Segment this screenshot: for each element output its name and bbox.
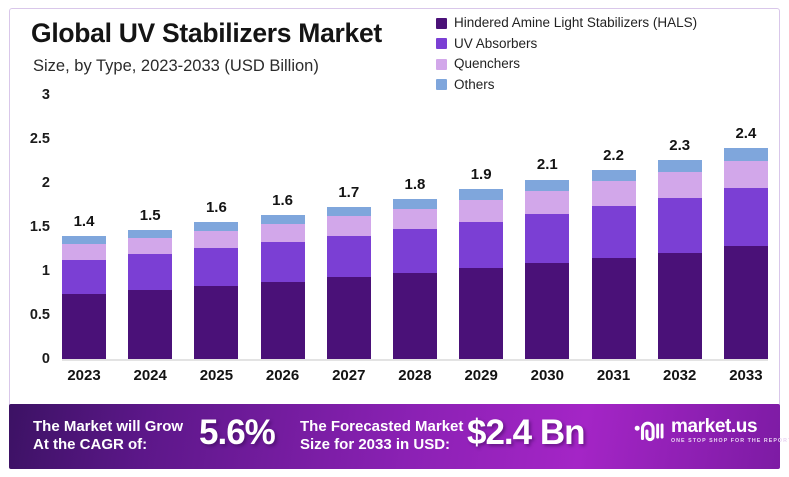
x-axis-tick: 2033 (724, 367, 768, 391)
bar-segment[interactable] (459, 200, 503, 222)
legend-item-label: Quenchers (454, 57, 520, 71)
chart-legend: Hindered Amine Light Stabilizers (HALS)U… (436, 15, 697, 93)
bar-stack (459, 189, 503, 359)
bar-value-label: 1.7 (338, 184, 359, 201)
bar-column[interactable]: 1.6 (261, 95, 305, 359)
bar-segment[interactable] (525, 180, 569, 191)
bar-column[interactable]: 1.9 (459, 95, 503, 359)
bar-segment[interactable] (658, 172, 702, 198)
logo-name: market.us (671, 417, 789, 436)
cagr-label: The Market will Grow At the CAGR of: (33, 418, 183, 455)
forecast-label: The Forecasted Market Size for 2033 in U… (300, 418, 463, 455)
bar-segment[interactable] (128, 254, 172, 290)
bar-stack (658, 160, 702, 359)
bar-stack (128, 230, 172, 359)
bar-segment[interactable] (128, 290, 172, 359)
bar-segment[interactable] (393, 229, 437, 273)
x-axis-tick: 2024 (128, 367, 172, 391)
bar-segment[interactable] (194, 248, 238, 286)
legend-item-label: Others (454, 78, 495, 92)
page-title: Global UV Stabilizers Market (31, 18, 382, 49)
bar-segment[interactable] (459, 189, 503, 200)
bar-segment[interactable] (393, 209, 437, 229)
bar-segment[interactable] (592, 258, 636, 359)
bar-value-label: 1.5 (140, 207, 161, 224)
y-axis: 00.511.522.53 (0, 95, 60, 359)
bar-column[interactable]: 2.1 (525, 95, 569, 359)
chart-subtitle: Size, by Type, 2023-2033 (USD Billion) (33, 57, 319, 76)
forecast-value: $2.4 Bn (467, 413, 585, 453)
bar-segment[interactable] (525, 263, 569, 359)
x-axis: 2023202420252026202720282029203020312032… (62, 367, 768, 391)
legend-swatch-icon (436, 18, 447, 29)
chart-infographic: Global UV Stabilizers Market Size, by Ty… (0, 0, 789, 477)
bar-segment[interactable] (724, 188, 768, 246)
cagr-value: 5.6% (199, 413, 275, 453)
bar-segment[interactable] (592, 181, 636, 206)
legend-item[interactable]: Hindered Amine Light Stabilizers (HALS) (436, 15, 697, 31)
bar-stack (62, 236, 106, 359)
x-axis-tick: 2030 (525, 367, 569, 391)
legend-item[interactable]: Others (436, 77, 697, 93)
bar-stack (261, 215, 305, 359)
bar-segment[interactable] (327, 216, 371, 235)
bar-column[interactable]: 1.6 (194, 95, 238, 359)
bar-segment[interactable] (194, 222, 238, 231)
legend-item[interactable]: UV Absorbers (436, 36, 697, 52)
logo-tagline: ONE STOP SHOP FOR THE REPORTS (671, 439, 789, 444)
x-axis-tick: 2025 (194, 367, 238, 391)
bar-segment[interactable] (525, 191, 569, 214)
bar-stack (393, 199, 437, 359)
bar-segment[interactable] (525, 214, 569, 263)
x-axis-tick: 2026 (261, 367, 305, 391)
bar-segment[interactable] (62, 294, 106, 359)
bar-column[interactable]: 1.8 (393, 95, 437, 359)
bar-segment[interactable] (194, 231, 238, 249)
bar-segment[interactable] (261, 282, 305, 359)
bar-segment[interactable] (62, 244, 106, 260)
x-axis-tick: 2023 (62, 367, 106, 391)
bar-segment[interactable] (724, 148, 768, 161)
bar-segment[interactable] (724, 161, 768, 188)
y-axis-tick: 0 (42, 351, 50, 367)
bar-segment[interactable] (459, 222, 503, 269)
bar-segment[interactable] (658, 198, 702, 253)
bar-value-label: 2.3 (669, 137, 690, 154)
x-axis-tick: 2032 (658, 367, 702, 391)
bar-value-label: 2.4 (735, 125, 756, 142)
bar-value-label: 1.4 (74, 213, 95, 230)
legend-item[interactable]: Quenchers (436, 56, 697, 72)
bar-segment[interactable] (194, 286, 238, 359)
bar-column[interactable]: 1.7 (327, 95, 371, 359)
x-axis-tick: 2028 (393, 367, 437, 391)
bar-segment[interactable] (261, 242, 305, 282)
x-axis-tick: 2029 (459, 367, 503, 391)
bar-segment[interactable] (658, 160, 702, 172)
bar-segment[interactable] (327, 236, 371, 277)
market-us-logo: market.us ONE STOP SHOP FOR THE REPORTS (633, 417, 789, 444)
bar-segment[interactable] (459, 268, 503, 359)
bar-segment[interactable] (62, 236, 106, 244)
x-axis-line (62, 359, 768, 361)
bar-segment[interactable] (592, 206, 636, 258)
y-axis-tick: 0.5 (30, 307, 50, 323)
y-axis-tick: 1.5 (30, 219, 50, 235)
bar-value-label: 2.2 (603, 147, 624, 164)
bar-segment[interactable] (261, 224, 305, 242)
bar-segment[interactable] (393, 199, 437, 209)
legend-swatch-icon (436, 59, 447, 70)
y-axis-tick: 3 (42, 87, 50, 103)
legend-item-label: Hindered Amine Light Stabilizers (HALS) (454, 16, 697, 30)
bar-segment[interactable] (327, 207, 371, 217)
bar-column[interactable]: 2.2 (592, 95, 636, 359)
bar-stack (194, 222, 238, 359)
bar-column[interactable]: 2.3 (658, 95, 702, 359)
x-axis-tick: 2027 (327, 367, 371, 391)
bar-stack (724, 148, 768, 359)
bar-value-label: 1.8 (405, 176, 426, 193)
bar-value-label: 1.6 (272, 192, 293, 209)
bar-value-label: 2.1 (537, 156, 558, 173)
bar-segment[interactable] (261, 215, 305, 224)
bar-segment[interactable] (327, 277, 371, 359)
y-axis-tick: 2 (42, 175, 50, 191)
bar-column[interactable]: 2.4 (724, 95, 768, 359)
bar-stack (327, 207, 371, 359)
bar-segment[interactable] (658, 253, 702, 359)
bar-value-label: 1.9 (471, 166, 492, 183)
bar-group: 1.41.51.61.61.71.81.92.12.22.32.4 (62, 95, 768, 359)
bar-value-label: 1.6 (206, 199, 227, 216)
legend-item-label: UV Absorbers (454, 37, 537, 51)
bar-segment[interactable] (128, 238, 172, 255)
bar-segment[interactable] (724, 246, 768, 359)
legend-swatch-icon (436, 38, 447, 49)
y-axis-tick: 1 (42, 263, 50, 279)
y-axis-tick: 2.5 (30, 131, 50, 147)
bar-stack (525, 179, 569, 359)
bar-segment[interactable] (393, 273, 437, 359)
market-us-mark-icon (633, 418, 664, 444)
bar-segment[interactable] (128, 230, 172, 238)
bar-column[interactable]: 1.4 (62, 95, 106, 359)
bar-segment[interactable] (62, 260, 106, 294)
x-axis-tick: 2031 (592, 367, 636, 391)
bar-stack (592, 170, 636, 359)
bar-segment[interactable] (592, 170, 636, 181)
legend-swatch-icon (436, 79, 447, 90)
bar-column[interactable]: 1.5 (128, 95, 172, 359)
